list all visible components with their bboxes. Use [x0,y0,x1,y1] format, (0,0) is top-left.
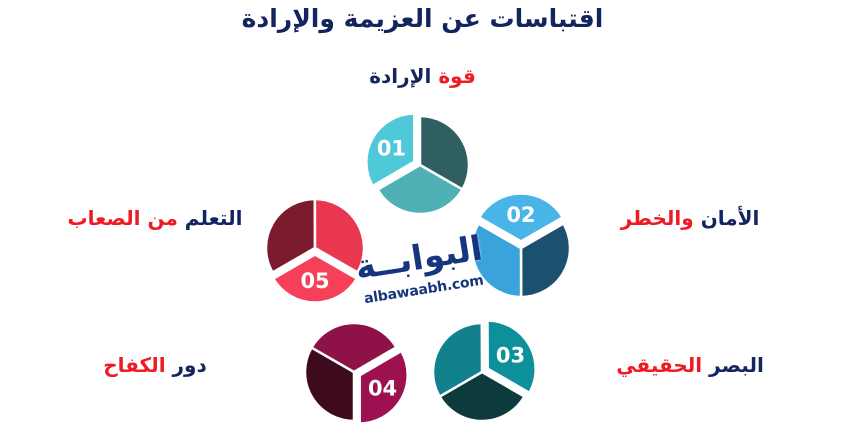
pie-03-number: 03 [496,343,525,367]
pie-05-svg: 05 [250,183,380,313]
infographic-canvas: اقتباسات عن العزيمة والإرادة قوة الإرادة… [0,0,845,445]
pie-chart-05[interactable]: 05 [250,183,380,313]
pie-label-04: دور الكفاح [10,355,300,375]
pie-02-number: 02 [506,203,535,227]
pie-label-04-part-a: دور [173,353,207,377]
page-title: اقتباسات عن العزيمة والإرادة [0,4,845,33]
pie-04-svg: 04 [289,307,419,437]
pie-chart-02[interactable]: 02 [456,183,586,313]
pie-chart-04[interactable]: 04 [289,307,419,437]
pie-label-05-part-a: التعلم [185,206,243,230]
pie-label-04-part-b: الكفاح [103,353,165,377]
pie-label-01-part-b: الإرادة [369,64,431,88]
pie-label-03: البصر الحقيقي [545,355,835,375]
pie-01-number: 01 [377,137,406,161]
pie-label-03-part-a: البصر [709,353,764,377]
pie-label-02-part-a: الأمان [701,206,760,230]
pie-05-number: 05 [300,269,329,293]
pie-label-01: قوة الإرادة [0,66,845,86]
pie-label-05-part-b: من الصعاب [68,206,178,230]
pie-chart-03[interactable]: 03 [417,307,547,437]
pie-02-svg: 02 [456,183,586,313]
pie-03-svg: 03 [417,307,547,437]
pie-label-01-part-a: قوة [438,64,475,88]
pie-04-number: 04 [368,376,397,400]
pie-label-02-part-b: والخطر [621,206,694,230]
pie-label-03-part-b: الحقيقي [616,353,702,377]
pie-label-02: الأمان والخطر [545,208,835,228]
